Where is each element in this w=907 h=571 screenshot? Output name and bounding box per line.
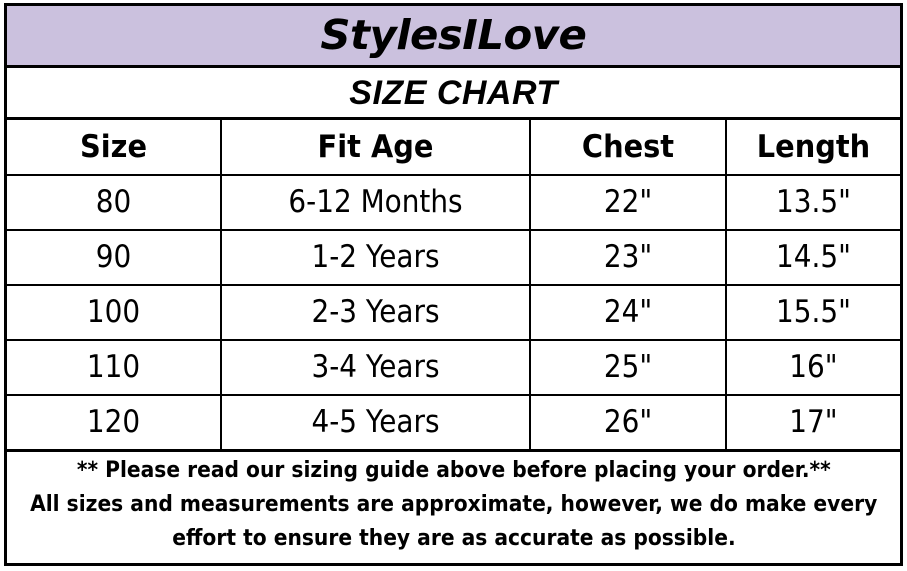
disclaimer-line-2: All sizes and measurements are approxima…: [30, 492, 877, 517]
column-header-chest: Chest: [537, 120, 719, 175]
size-chart-table: Size Fit Age Chest Length 80 6-12 Months…: [7, 120, 900, 452]
cell-fit-age: 6-12 Months: [236, 175, 514, 230]
table-header: Size Fit Age Chest Length: [7, 120, 900, 175]
disclaimer-line-3: effort to ensure they are as accurate as…: [172, 526, 735, 551]
cell-size: 90: [18, 230, 211, 285]
cell-fit-age: 3-4 Years: [236, 340, 514, 395]
column-header-length: Length: [732, 120, 894, 175]
column-header-fit-age: Fit Age: [232, 120, 519, 175]
size-chart-container: StylesILove SIZE CHART Size Fit Age Ches…: [4, 3, 903, 566]
table-row: 90 1-2 Years 23" 14.5": [7, 230, 900, 285]
cell-fit-age: 4-5 Years: [236, 395, 514, 451]
table-header-row: Size Fit Age Chest Length: [7, 120, 900, 175]
cell-length: 17": [735, 395, 892, 451]
cell-chest: 26": [540, 395, 716, 451]
table-row: 110 3-4 Years 25" 16": [7, 340, 900, 395]
cell-size: 80: [18, 175, 211, 230]
brand-name: StylesILove: [321, 15, 587, 56]
cell-size: 120: [18, 395, 211, 451]
table-row: 100 2-3 Years 24" 15.5": [7, 285, 900, 340]
cell-size: 110: [18, 340, 211, 395]
cell-length: 16": [735, 340, 892, 395]
cell-length: 13.5": [735, 175, 892, 230]
disclaimer-line-1: ** Please read our sizing guide above be…: [77, 458, 831, 483]
subtitle-row: SIZE CHART: [7, 68, 900, 120]
cell-chest: 25": [540, 340, 716, 395]
cell-chest: 23": [540, 230, 716, 285]
cell-fit-age: 2-3 Years: [236, 285, 514, 340]
table-row: 120 4-5 Years 26" 17": [7, 395, 900, 451]
cell-chest: 22": [540, 175, 716, 230]
cell-chest: 24": [540, 285, 716, 340]
sizing-disclaimer: ** Please read our sizing guide above be…: [7, 452, 900, 563]
brand-header-band: StylesILove: [7, 6, 900, 68]
cell-size: 100: [18, 285, 211, 340]
table-body: 80 6-12 Months 22" 13.5" 90 1-2 Years 23…: [7, 175, 900, 451]
cell-length: 15.5": [735, 285, 892, 340]
column-header-size: Size: [14, 120, 213, 175]
table-row: 80 6-12 Months 22" 13.5": [7, 175, 900, 230]
cell-fit-age: 1-2 Years: [236, 230, 514, 285]
page-title: SIZE CHART: [349, 76, 557, 110]
cell-length: 14.5": [735, 230, 892, 285]
